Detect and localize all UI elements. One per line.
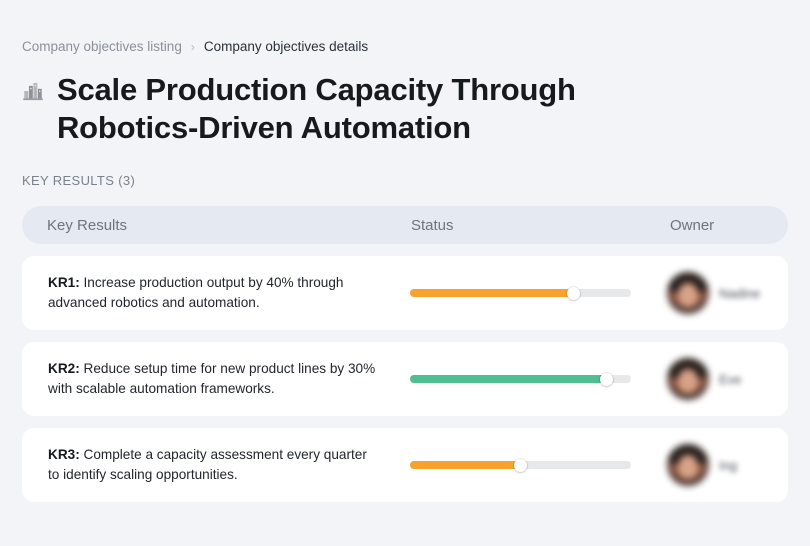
status-progress[interactable]	[410, 283, 631, 303]
progress-track	[410, 461, 631, 469]
progress-fill	[410, 461, 521, 469]
status-progress[interactable]	[410, 455, 631, 475]
key-result-description: Reduce setup time for new product lines …	[48, 361, 375, 396]
table-row[interactable]: KR3: Complete a capacity assessment ever…	[22, 428, 788, 502]
key-result-label: KR2:	[48, 361, 80, 376]
key-result-text: KR1: Increase production output by 40% t…	[48, 273, 378, 313]
breadcrumb-parent-link[interactable]: Company objectives listing	[22, 38, 182, 56]
progress-knob[interactable]	[514, 459, 527, 472]
avatar	[667, 272, 709, 314]
progress-track	[410, 375, 631, 383]
owner-name: Nadine	[719, 286, 760, 301]
column-header-key-results: Key Results	[47, 217, 127, 234]
status-progress[interactable]	[410, 369, 631, 389]
page-header: Scale Production Capacity Through Roboti…	[22, 71, 788, 147]
owner-cell[interactable]: Eve	[667, 358, 741, 400]
key-result-description: Increase production output by 40% throug…	[48, 275, 343, 310]
owner-cell[interactable]: Nadine	[667, 272, 760, 314]
page-title: Scale Production Capacity Through Roboti…	[57, 71, 682, 147]
progress-knob[interactable]	[567, 287, 580, 300]
progress-fill	[410, 375, 607, 383]
key-result-label: KR3:	[48, 447, 80, 462]
key-result-text: KR2: Reduce setup time for new product l…	[48, 359, 378, 399]
breadcrumb: Company objectives listing › Company obj…	[22, 0, 788, 56]
table-row[interactable]: KR1: Increase production output by 40% t…	[22, 256, 788, 330]
key-results-list: KR1: Increase production output by 40% t…	[22, 256, 788, 502]
avatar	[667, 358, 709, 400]
objective-details-page: Company objectives listing › Company obj…	[0, 0, 810, 546]
column-header-owner: Owner	[670, 217, 714, 234]
column-header-status: Status	[411, 217, 454, 234]
key-result-description: Complete a capacity assessment every qua…	[48, 447, 367, 482]
key-result-text: KR3: Complete a capacity assessment ever…	[48, 445, 378, 485]
avatar	[667, 444, 709, 486]
owner-name: Ing	[719, 458, 737, 473]
owner-cell[interactable]: Ing	[667, 444, 737, 486]
progress-fill	[410, 289, 574, 297]
table-header: Key Results Status Owner	[22, 206, 788, 244]
key-results-section-label: KEY RESULTS (3)	[22, 173, 788, 188]
chevron-right-icon: ›	[191, 38, 195, 56]
table-row[interactable]: KR2: Reduce setup time for new product l…	[22, 342, 788, 416]
owner-name: Eve	[719, 372, 741, 387]
breadcrumb-current: Company objectives details	[204, 38, 368, 56]
progress-track	[410, 289, 631, 297]
key-result-label: KR1:	[48, 275, 80, 290]
progress-knob[interactable]	[600, 373, 613, 386]
building-icon	[22, 80, 44, 102]
